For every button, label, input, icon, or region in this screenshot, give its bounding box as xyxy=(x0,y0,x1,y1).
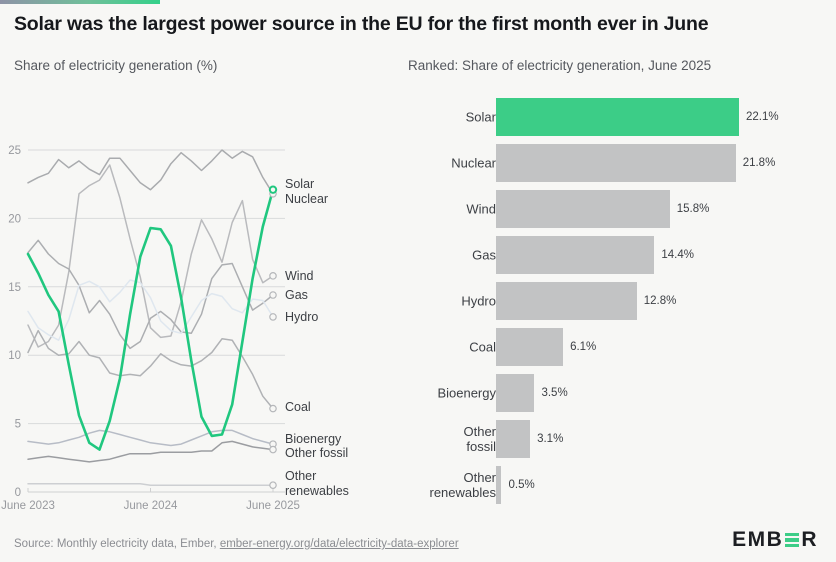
line-series-other-fossil xyxy=(28,441,273,462)
x-axis-tick: June 2023 xyxy=(1,500,55,512)
series-inline-label: Gas xyxy=(285,288,308,302)
line-chart: 0510152025June 2023June 2024June 2025Sol… xyxy=(0,92,400,512)
bar-value-label: 21.8% xyxy=(743,157,776,169)
series-inline-label: Other fossil xyxy=(285,446,348,460)
bar-rect[interactable] xyxy=(496,374,534,412)
line-chart-svg: 0510152025June 2023June 2024June 2025Sol… xyxy=(0,92,400,512)
bar-category-label: Bioenergy xyxy=(386,386,496,401)
series-inline-label: Other xyxy=(285,469,316,483)
bar-row: Solar22.1% xyxy=(408,98,836,136)
logo-text-emb: EMB xyxy=(732,528,783,552)
y-axis-tick: 15 xyxy=(8,282,21,294)
bar-row: Otherfossil3.1% xyxy=(408,420,836,458)
bar-value-label: 14.4% xyxy=(661,249,694,261)
y-axis-tick: 10 xyxy=(8,350,21,362)
bar-category-label: Wind xyxy=(386,202,496,217)
series-inline-label: Wind xyxy=(285,269,314,283)
bar-value-label: 6.1% xyxy=(570,341,596,353)
bar-rect[interactable] xyxy=(496,282,637,320)
series-inline-label: Coal xyxy=(285,400,311,414)
series-endpoint-marker-other-fossil xyxy=(270,446,276,452)
series-inline-label: renewables xyxy=(285,484,349,498)
bar-row: Nuclear21.8% xyxy=(408,144,836,182)
source-link[interactable]: ember-energy.org/data/electricity-data-e… xyxy=(220,538,459,550)
bar-category-label: Otherfossil xyxy=(386,424,496,454)
series-inline-label: Bioenergy xyxy=(285,432,342,446)
y-axis-tick: 25 xyxy=(8,145,21,157)
bar-value-label: 3.1% xyxy=(537,433,563,445)
line-chart-subtitle: Share of electricity generation (%) xyxy=(14,58,217,73)
top-accent-bar xyxy=(0,0,160,4)
x-axis-tick: June 2024 xyxy=(124,500,178,512)
ember-logo: EMBR xyxy=(732,528,818,552)
bar-value-label: 22.1% xyxy=(746,111,779,123)
bar-rect[interactable] xyxy=(496,144,736,182)
y-axis-tick: 0 xyxy=(15,487,21,499)
series-inline-label: Solar xyxy=(285,177,314,191)
series-endpoint-marker-coal xyxy=(270,405,276,411)
bar-row: Coal6.1% xyxy=(408,328,836,366)
bar-rect[interactable] xyxy=(496,236,654,274)
series-inline-label: Hydro xyxy=(285,310,318,324)
bar-row: Hydro12.8% xyxy=(408,282,836,320)
bar-rect[interactable] xyxy=(496,190,670,228)
bar-category-label: Otherrenewables xyxy=(386,470,496,500)
x-axis-tick: June 2025 xyxy=(246,500,300,512)
chart-page: Solar was the largest power source in th… xyxy=(0,0,836,562)
line-series-other-renewables xyxy=(28,484,273,485)
logo-text-r: R xyxy=(801,528,818,552)
logo-e-bars-icon xyxy=(785,533,799,548)
bar-value-label: 12.8% xyxy=(644,295,677,307)
bar-category-label: Gas xyxy=(386,248,496,263)
page-title: Solar was the largest power source in th… xyxy=(14,12,814,36)
bar-rect[interactable] xyxy=(496,420,530,458)
line-series-nuclear xyxy=(28,150,273,194)
series-endpoint-marker-solar xyxy=(270,186,276,192)
bar-category-label: Nuclear xyxy=(386,156,496,171)
bar-row: Otherrenewables0.5% xyxy=(408,466,836,504)
bar-rect[interactable] xyxy=(496,98,739,136)
y-axis-tick: 5 xyxy=(15,419,21,431)
series-endpoint-marker-wind xyxy=(270,273,276,279)
bar-rect[interactable] xyxy=(496,328,563,366)
series-endpoint-marker-gas xyxy=(270,292,276,298)
series-endpoint-marker-other-renewables xyxy=(270,482,276,488)
bar-category-label: Hydro xyxy=(386,294,496,309)
source-prefix: Source: Monthly electricity data, Ember, xyxy=(14,538,220,550)
bar-value-label: 15.8% xyxy=(677,203,710,215)
bar-row: Bioenergy3.5% xyxy=(408,374,836,412)
source-note: Source: Monthly electricity data, Ember,… xyxy=(14,538,459,550)
y-axis-tick: 20 xyxy=(8,213,21,225)
bar-chart-subtitle: Ranked: Share of electricity generation,… xyxy=(408,58,711,73)
bar-value-label: 0.5% xyxy=(508,479,534,491)
bar-rect[interactable] xyxy=(496,466,501,504)
bar-category-label: Coal xyxy=(386,340,496,355)
series-endpoint-marker-hydro xyxy=(270,314,276,320)
bar-row: Wind15.8% xyxy=(408,190,836,228)
bar-chart: Solar22.1%Nuclear21.8%Wind15.8%Gas14.4%H… xyxy=(408,90,836,510)
bar-category-label: Solar xyxy=(386,110,496,125)
bar-value-label: 3.5% xyxy=(541,387,567,399)
series-inline-label: Nuclear xyxy=(285,192,328,206)
bar-row: Gas14.4% xyxy=(408,236,836,274)
